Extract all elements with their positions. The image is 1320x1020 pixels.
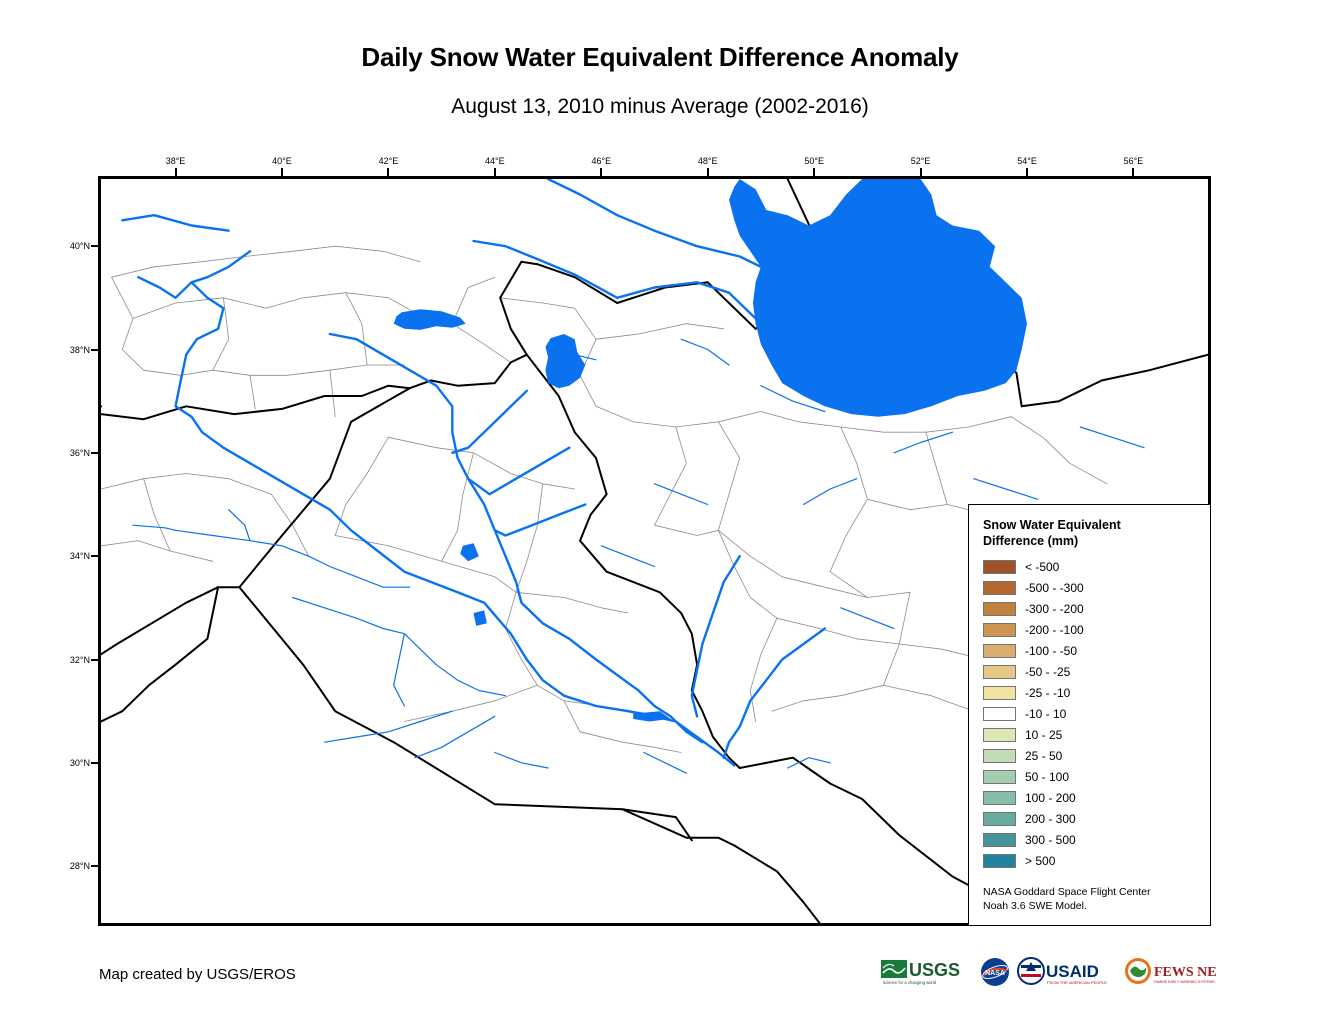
map-legend[interactable]: Snow Water Equivalent Difference (mm) < … xyxy=(968,504,1211,926)
lon-tick-mark xyxy=(1026,168,1028,176)
legend-swatch xyxy=(983,665,1016,679)
lon-tick-label: 42°E xyxy=(379,156,399,166)
lat-tick-label: 40°N xyxy=(50,241,90,251)
lat-tick-label: 36°N xyxy=(50,448,90,458)
legend-row[interactable]: 100 - 200 xyxy=(983,788,1210,809)
svg-text:USGS: USGS xyxy=(909,960,960,980)
lon-tick-label: 50°E xyxy=(804,156,824,166)
lon-tick-label: 52°E xyxy=(911,156,931,166)
lon-tick-label: 54°E xyxy=(1017,156,1037,166)
legend-label: -10 - 10 xyxy=(1025,707,1066,721)
svg-text:science for a changing world: science for a changing world xyxy=(883,980,937,985)
legend-row[interactable]: 10 - 25 xyxy=(983,725,1210,746)
lat-tick-label: 34°N xyxy=(50,551,90,561)
lon-tick-mark xyxy=(175,168,177,176)
lon-tick-label: 56°E xyxy=(1124,156,1144,166)
fewsnet-logo: FEWS NET FAMINE EARLY WARNING SYSTEMS NE… xyxy=(1124,957,1216,987)
legend-source-note: NASA Goddard Space Flight Center Noah 3.… xyxy=(983,885,1151,913)
legend-swatch xyxy=(983,728,1016,742)
legend-swatch xyxy=(983,812,1016,826)
legend-label: 25 - 50 xyxy=(1025,749,1062,763)
lon-tick-mark xyxy=(600,168,602,176)
legend-label: -500 - -300 xyxy=(1025,581,1084,595)
lat-tick-label: 32°N xyxy=(50,655,90,665)
map-credit: Map created by USGS/EROS xyxy=(99,966,296,983)
legend-label: -50 - -25 xyxy=(1025,665,1070,679)
legend-note-line2: Noah 3.6 SWE Model. xyxy=(983,899,1151,913)
lon-tick-mark xyxy=(707,168,709,176)
legend-row[interactable]: -300 - -200 xyxy=(983,599,1210,620)
legend-swatch xyxy=(983,833,1016,847)
legend-label: 10 - 25 xyxy=(1025,728,1062,742)
lake-van xyxy=(394,309,466,330)
legend-label: -25 - -10 xyxy=(1025,686,1070,700)
legend-swatch xyxy=(983,707,1016,721)
legend-swatch xyxy=(983,791,1016,805)
svg-text:USAID: USAID xyxy=(1046,962,1099,981)
lon-tick-label: 38°E xyxy=(166,156,186,166)
legend-row[interactable]: 50 - 100 xyxy=(983,767,1210,788)
legend-label: -100 - -50 xyxy=(1025,644,1077,658)
legend-swatch xyxy=(983,686,1016,700)
legend-row[interactable]: -200 - -100 xyxy=(983,620,1210,641)
title-block: Daily Snow Water Equivalent Difference A… xyxy=(0,0,1320,119)
legend-swatch xyxy=(983,770,1016,784)
lat-tick-label: 28°N xyxy=(50,861,90,871)
legend-items: < -500-500 - -300-300 - -200-200 - -100-… xyxy=(983,557,1210,872)
legend-title-line1: Snow Water Equivalent xyxy=(983,517,1168,533)
legend-row[interactable]: 200 - 300 xyxy=(983,809,1210,830)
svg-text:FROM THE AMERICAN PEOPLE: FROM THE AMERICAN PEOPLE xyxy=(1047,980,1107,985)
lon-tick-label: 48°E xyxy=(698,156,718,166)
legend-note-line1: NASA Goddard Space Flight Center xyxy=(983,885,1151,899)
legend-label: 300 - 500 xyxy=(1025,833,1076,847)
legend-row[interactable]: -10 - 10 xyxy=(983,704,1210,725)
lake-urmia xyxy=(545,334,585,388)
lon-tick-mark xyxy=(920,168,922,176)
page-subtitle: August 13, 2010 minus Average (2002-2016… xyxy=(0,95,1320,119)
lat-tick-label: 30°N xyxy=(50,758,90,768)
legend-label: 50 - 100 xyxy=(1025,770,1069,784)
usaid-logo: USAID FROM THE AMERICAN PEOPLE xyxy=(1017,957,1117,987)
legend-row[interactable]: < -500 xyxy=(983,557,1210,578)
legend-swatch xyxy=(983,749,1016,763)
legend-label: 200 - 300 xyxy=(1025,812,1076,826)
usgs-logo: USGS science for a changing world xyxy=(881,957,973,987)
legend-row[interactable]: -500 - -300 xyxy=(983,578,1210,599)
legend-row[interactable]: > 500 xyxy=(983,851,1210,872)
caspian-sea xyxy=(729,179,1027,417)
legend-row[interactable]: -25 - -10 xyxy=(983,683,1210,704)
legend-row[interactable]: 300 - 500 xyxy=(983,830,1210,851)
lon-tick-label: 40°E xyxy=(272,156,292,166)
svg-text:NASA: NASA xyxy=(985,970,1005,977)
legend-swatch xyxy=(983,623,1016,637)
legend-title: Snow Water Equivalent Difference (mm) xyxy=(983,517,1168,550)
lat-tick-label: 38°N xyxy=(50,345,90,355)
page-title: Daily Snow Water Equivalent Difference A… xyxy=(0,42,1320,73)
legend-label: > 500 xyxy=(1025,854,1055,868)
legend-label: 100 - 200 xyxy=(1025,791,1076,805)
legend-row[interactable]: 25 - 50 xyxy=(983,746,1210,767)
lon-tick-mark xyxy=(281,168,283,176)
nasa-logo: NASA xyxy=(980,957,1010,987)
lon-tick-mark xyxy=(387,168,389,176)
lon-tick-mark xyxy=(1132,168,1134,176)
legend-row[interactable]: -100 - -50 xyxy=(983,641,1210,662)
lon-tick-label: 46°E xyxy=(591,156,611,166)
legend-label: < -500 xyxy=(1025,560,1059,574)
lon-tick-label: 44°E xyxy=(485,156,505,166)
legend-row[interactable]: -50 - -25 xyxy=(983,662,1210,683)
water-bodies-layer xyxy=(394,179,1027,722)
legend-swatch xyxy=(983,581,1016,595)
logo-bar: USGS science for a changing world NASA U… xyxy=(881,955,1216,989)
lon-tick-mark xyxy=(494,168,496,176)
legend-swatch xyxy=(983,602,1016,616)
legend-label: -200 - -100 xyxy=(1025,623,1084,637)
legend-swatch xyxy=(983,560,1016,574)
legend-swatch xyxy=(983,644,1016,658)
legend-title-line2: Difference (mm) xyxy=(983,533,1168,549)
legend-swatch xyxy=(983,854,1016,868)
svg-text:FAMINE EARLY WARNING SYSTEMS N: FAMINE EARLY WARNING SYSTEMS NETWORK xyxy=(1154,980,1216,984)
legend-label: -300 - -200 xyxy=(1025,602,1084,616)
svg-text:FEWS NET: FEWS NET xyxy=(1154,965,1216,980)
lon-tick-mark xyxy=(813,168,815,176)
